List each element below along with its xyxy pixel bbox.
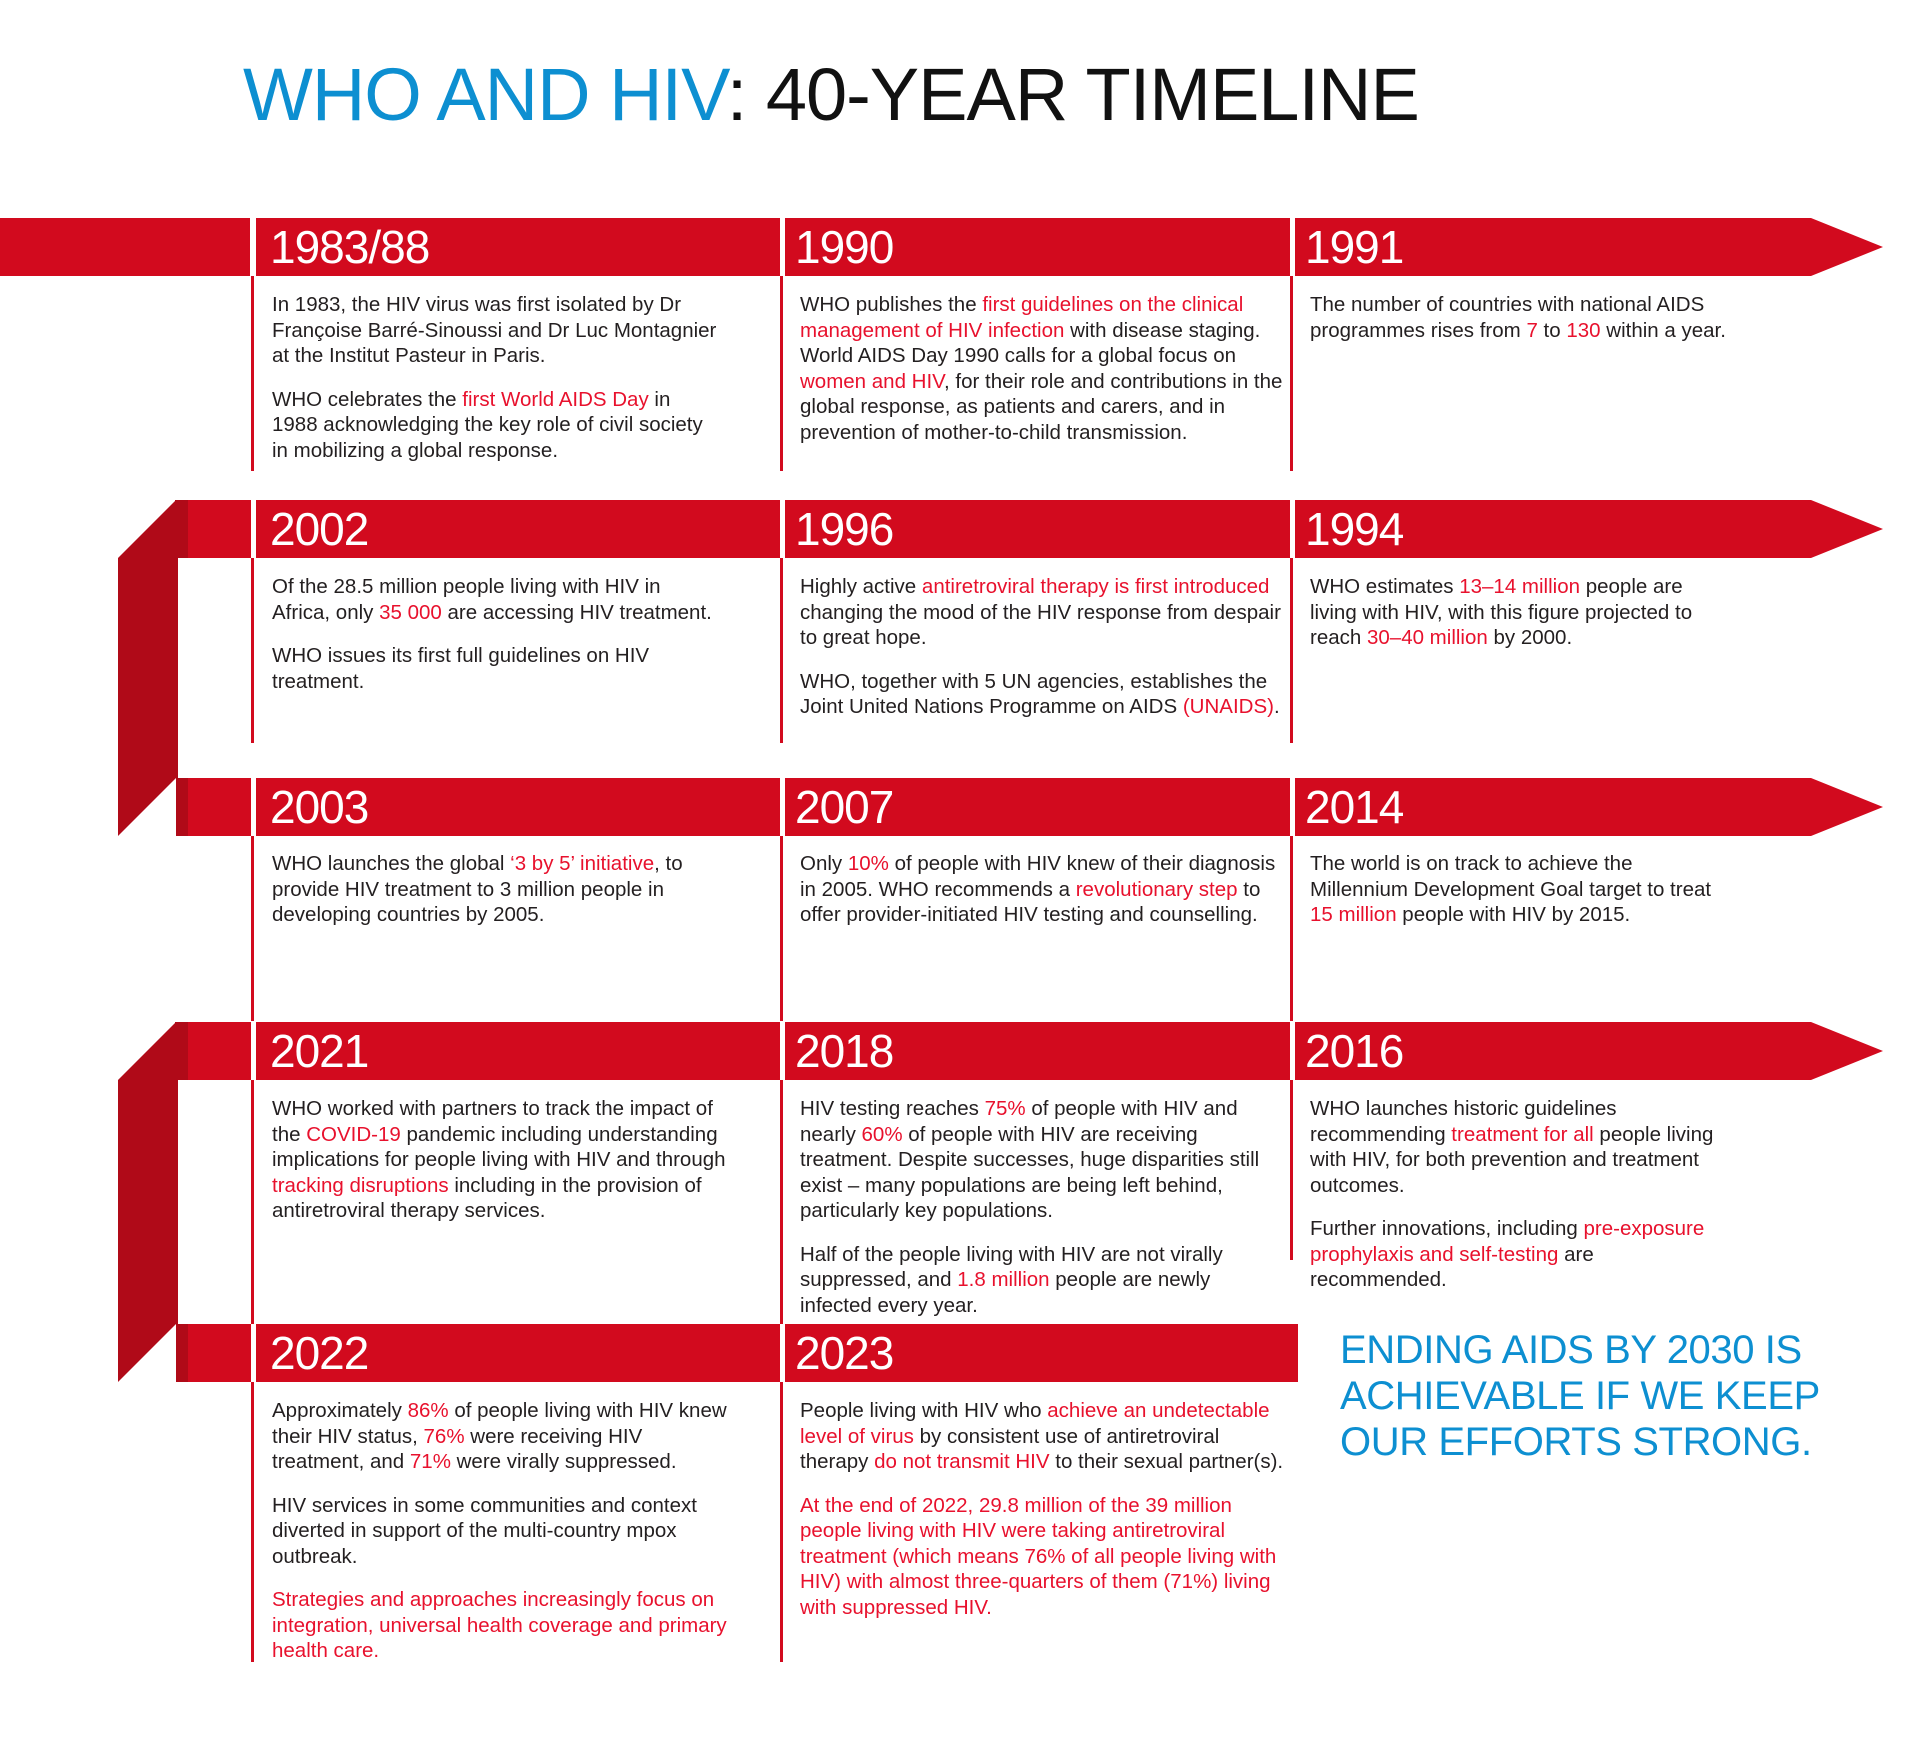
year-2016: 2016 <box>1305 1022 1403 1080</box>
row2-elbow-chevron-icon <box>118 500 176 558</box>
row4-elbow-stem <box>118 1080 178 1324</box>
copy-1983: In 1983, the HIV virus was first isolate… <box>272 292 717 463</box>
row3-rule-2 <box>780 836 783 1021</box>
row4-divider-2 <box>780 1022 785 1080</box>
row1-divider-1 <box>251 218 256 276</box>
year-1990: 1990 <box>795 218 893 276</box>
row1-rule-1 <box>251 276 254 471</box>
row2-arrowhead-icon <box>1811 500 1883 558</box>
copy-2007: Only 10% of people with HIV knew of thei… <box>800 851 1285 928</box>
row2-divider-2 <box>780 500 785 558</box>
copy-2002: Of the 28.5 million people living with H… <box>272 574 717 694</box>
row3-band <box>188 778 1811 836</box>
year-2014: 2014 <box>1305 778 1403 836</box>
copy-paragraph: In 1983, the HIV virus was first isolate… <box>272 292 717 369</box>
row4-elbow-chevron-icon <box>118 1022 176 1080</box>
year-2007: 2007 <box>795 778 893 836</box>
copy-paragraph: The world is on track to achieve the Mil… <box>1310 851 1730 928</box>
year-2023: 2023 <box>795 1324 893 1382</box>
row3-divider-2 <box>780 778 785 836</box>
copy-paragraph: Approximately 86% of people living with … <box>272 1398 737 1475</box>
copy-paragraph: Strategies and approaches increasingly f… <box>272 1587 737 1664</box>
year-2018: 2018 <box>795 1022 893 1080</box>
copy-paragraph: At the end of 2022, 29.8 million of the … <box>800 1493 1285 1621</box>
year-2002: 2002 <box>270 500 368 558</box>
row2-divider-1 <box>251 500 256 558</box>
row5-divider-1 <box>251 1324 256 1382</box>
copy-2023: People living with HIV who achieve an un… <box>800 1398 1285 1620</box>
year-2022: 2022 <box>270 1324 368 1382</box>
copy-2018: HIV testing reaches 75% of people with H… <box>800 1096 1285 1318</box>
row1-rule-3 <box>1290 276 1293 471</box>
row4-arrowhead-icon <box>1811 1022 1883 1080</box>
timeline-grid: 1983/88 1990 1991 In 1983, the HIV virus… <box>0 0 1920 1750</box>
copy-paragraph: The number of countries with national AI… <box>1310 292 1730 343</box>
copy-paragraph: WHO launches historic guidelines recomme… <box>1310 1096 1730 1198</box>
row5-elbow-chevron-icon <box>118 1324 176 1382</box>
year-1983: 1983/88 <box>270 218 429 276</box>
copy-paragraph: WHO publishes the first guidelines on th… <box>800 292 1285 445</box>
copy-1994: WHO estimates 13–14 million people are l… <box>1310 574 1730 651</box>
copy-paragraph: HIV services in some communities and con… <box>272 1493 737 1570</box>
copy-paragraph: HIV testing reaches 75% of people with H… <box>800 1096 1285 1224</box>
row3-arrowhead-icon <box>1811 778 1883 836</box>
row1-rule-2 <box>780 276 783 471</box>
year-1991: 1991 <box>1305 218 1403 276</box>
copy-paragraph: Further innovations, including pre-expos… <box>1310 1216 1730 1293</box>
copy-1991: The number of countries with national AI… <box>1310 292 1730 343</box>
copy-paragraph: Highly active antiretroviral therapy is … <box>800 574 1285 651</box>
row5-rule-1 <box>251 1382 254 1662</box>
row5-rule-2 <box>780 1382 783 1662</box>
year-1994: 1994 <box>1305 500 1403 558</box>
copy-paragraph: WHO issues its first full guidelines on … <box>272 643 717 694</box>
copy-2003: WHO launches the global ‘3 by 5’ initiat… <box>272 851 732 928</box>
row2-rule-2 <box>780 558 783 743</box>
copy-paragraph: Of the 28.5 million people living with H… <box>272 574 717 625</box>
row4-band <box>188 1022 1811 1080</box>
row5-divider-2 <box>780 1324 785 1382</box>
copy-1990: WHO publishes the first guidelines on th… <box>800 292 1285 445</box>
row4-rule-3 <box>1290 1080 1293 1260</box>
row2-band <box>188 500 1811 558</box>
copy-2016: WHO launches historic guidelines recomme… <box>1310 1096 1730 1293</box>
copy-paragraph: WHO worked with partners to track the im… <box>272 1096 737 1224</box>
copy-paragraph: Half of the people living with HIV are n… <box>800 1242 1285 1319</box>
copy-2014: The world is on track to achieve the Mil… <box>1310 851 1730 928</box>
closing-statement: ENDING AIDS BY 2030 IS ACHIEVABLE IF WE … <box>1340 1327 1900 1465</box>
year-1996: 1996 <box>795 500 893 558</box>
row1-left-bar <box>0 218 250 276</box>
row4-rule-2 <box>780 1080 783 1324</box>
copy-paragraph: People living with HIV who achieve an un… <box>800 1398 1285 1475</box>
copy-paragraph: WHO launches the global ‘3 by 5’ initiat… <box>272 851 732 928</box>
infographic-page: WHO AND HIV: 40-YEAR TIMELINE 1983/88 19… <box>0 0 1920 1750</box>
row4-divider-3 <box>1290 1022 1295 1080</box>
row3-divider-1 <box>251 778 256 836</box>
row3-elbow-chevron-icon <box>118 778 176 836</box>
copy-paragraph: WHO estimates 13–14 million people are l… <box>1310 574 1730 651</box>
year-2021: 2021 <box>270 1022 368 1080</box>
year-2003: 2003 <box>270 778 368 836</box>
copy-1996: Highly active antiretroviral therapy is … <box>800 574 1285 720</box>
row2-divider-3 <box>1290 500 1295 558</box>
copy-paragraph: WHO, together with 5 UN agencies, establ… <box>800 669 1285 720</box>
row3-rule-1 <box>251 836 254 1021</box>
row4-rule-1 <box>251 1080 254 1324</box>
row3-divider-3 <box>1290 778 1295 836</box>
row2-elbow-stem <box>118 558 178 778</box>
row1-band <box>256 218 1811 276</box>
row2-rule-1 <box>251 558 254 743</box>
row1-divider-3 <box>1290 218 1295 276</box>
copy-paragraph: WHO celebrates the first World AIDS Day … <box>272 387 717 464</box>
row1-divider-2 <box>780 218 785 276</box>
copy-2022: Approximately 86% of people living with … <box>272 1398 737 1664</box>
row2-rule-3 <box>1290 558 1293 743</box>
copy-2021: WHO worked with partners to track the im… <box>272 1096 737 1224</box>
row1-arrowhead-icon <box>1811 218 1883 276</box>
copy-paragraph: Only 10% of people with HIV knew of thei… <box>800 851 1285 928</box>
row4-divider-1 <box>251 1022 256 1080</box>
row3-rule-3 <box>1290 836 1293 1021</box>
